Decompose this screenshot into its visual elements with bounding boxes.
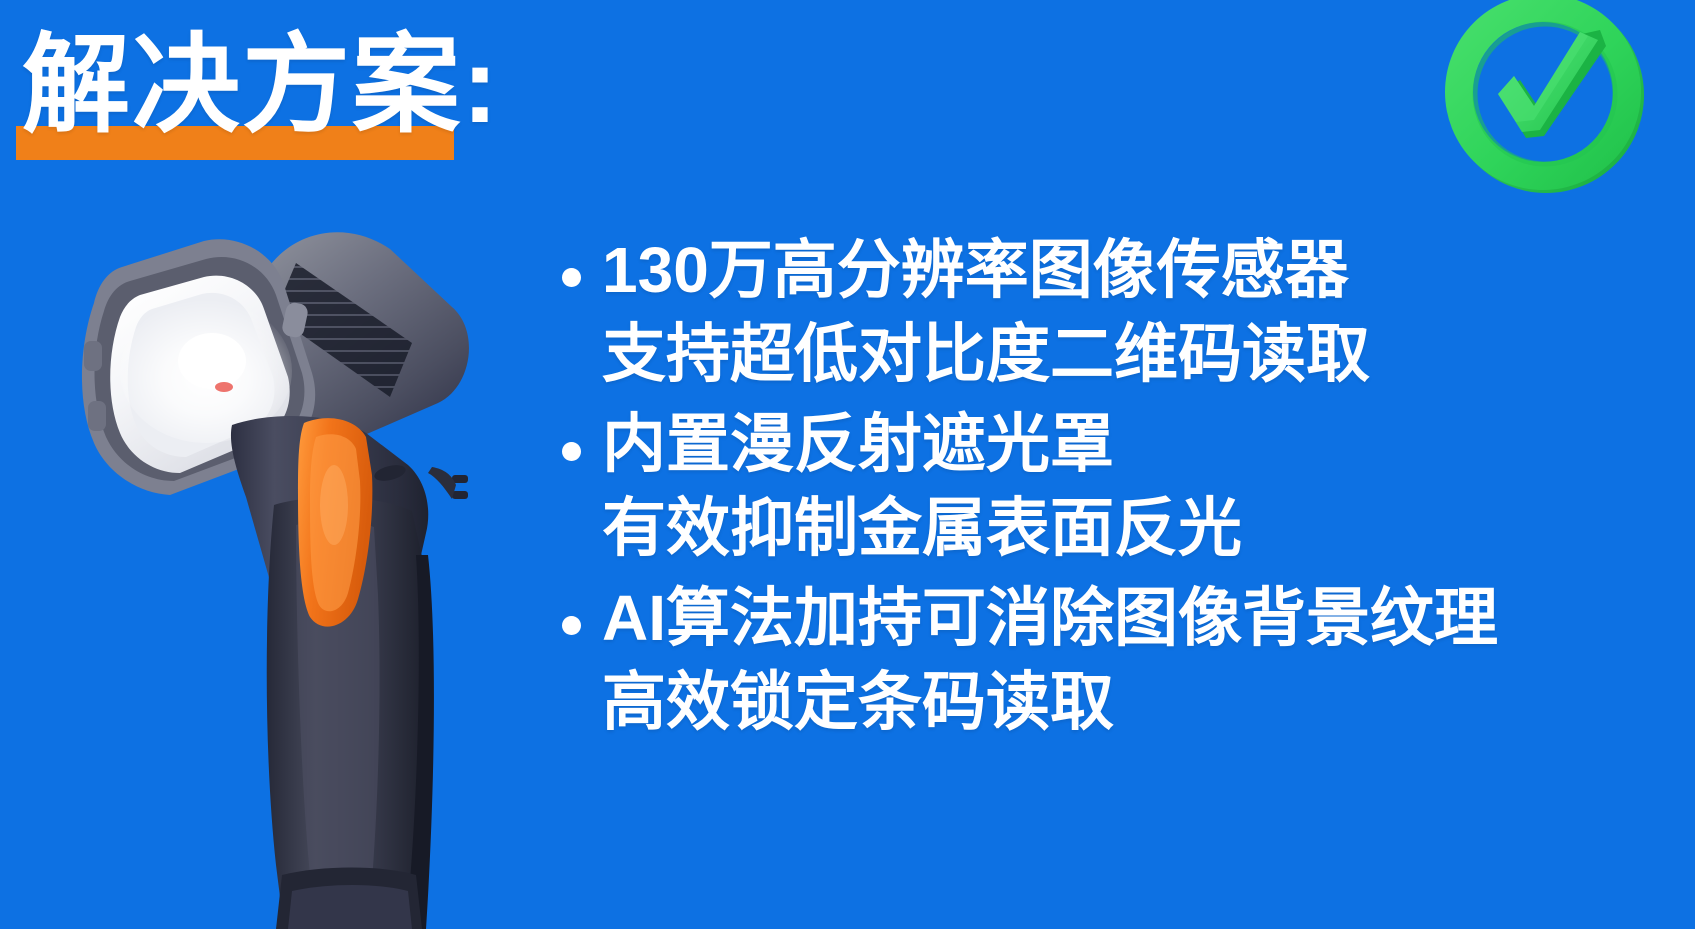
- bullet-dot-icon: [562, 442, 581, 461]
- list-item: AI算法加持可消除图像背景纹理 高效锁定条码读取: [512, 576, 1642, 744]
- barcode-scanner-image: [60, 175, 490, 929]
- check-circle-icon: [1430, 0, 1662, 208]
- list-item-text: 内置漫反射遮光罩 有效抑制金属表面反光: [512, 402, 1642, 570]
- list-item-line-2: 有效抑制金属表面反光: [602, 486, 1642, 570]
- solution-slide: 解决方案:: [0, 0, 1695, 929]
- bullet-dot-icon: [562, 268, 581, 287]
- page-title: 解决方案:: [22, 26, 500, 144]
- list-item-line-1: 130万高分辨率图像传感器: [602, 228, 1642, 312]
- list-item-line-2: 支持超低对比度二维码读取: [602, 312, 1642, 396]
- list-item-line-1: 内置漫反射遮光罩: [602, 402, 1642, 486]
- list-item-text: 130万高分辨率图像传感器 支持超低对比度二维码读取: [512, 228, 1642, 396]
- page-title-block: 解决方案:: [8, 18, 478, 168]
- list-item-line-1: AI算法加持可消除图像背景纹理: [602, 576, 1642, 660]
- list-item: 内置漫反射遮光罩 有效抑制金属表面反光: [512, 402, 1642, 570]
- bullet-dot-icon: [562, 616, 581, 635]
- list-item: 130万高分辨率图像传感器 支持超低对比度二维码读取: [512, 228, 1642, 396]
- list-item-line-2: 高效锁定条码读取: [602, 660, 1642, 744]
- list-item-text: AI算法加持可消除图像背景纹理 高效锁定条码读取: [512, 576, 1642, 744]
- feature-bullet-list: 130万高分辨率图像传感器 支持超低对比度二维码读取 内置漫反射遮光罩 有效抑制…: [512, 228, 1642, 750]
